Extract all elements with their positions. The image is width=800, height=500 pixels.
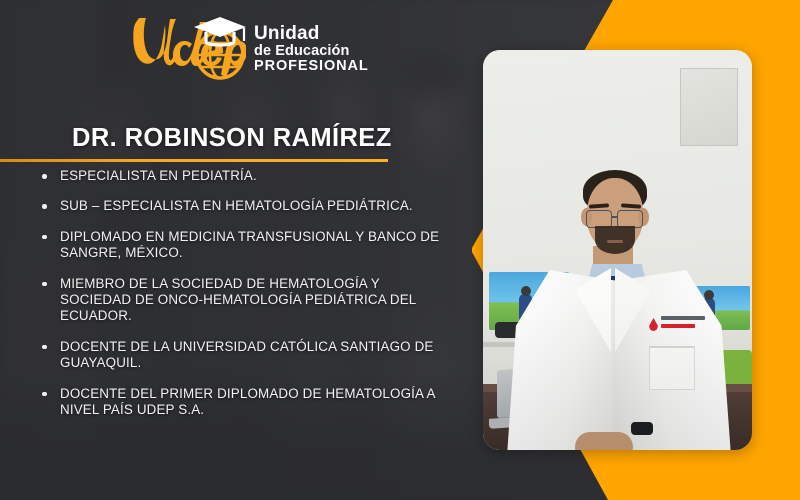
title-underline-rule xyxy=(0,159,388,162)
logo-line-2: de Educación xyxy=(254,44,369,59)
page-title: DR. ROBINSON RAMÍREZ xyxy=(72,124,392,153)
list-item: DOCENTE DEL PRIMER DIPLOMADO DE HEMATOLO… xyxy=(38,386,450,419)
doctor-portrait-photo:  xyxy=(483,50,752,450)
udep-logo: Unidad de Educación PROFESIONAL xyxy=(128,8,378,86)
udep-wordmark-icon xyxy=(128,11,246,83)
udep-logo-text: Unidad de Educación PROFESIONAL xyxy=(254,20,369,74)
list-item: DOCENTE DE LA UNIVERSIDAD CATÓLICA SANTI… xyxy=(38,339,450,372)
udep-logo-mark xyxy=(128,11,246,83)
credentials-list: ESPECIALISTA EN PEDIATRÍA. SUB – ESPECIA… xyxy=(38,168,450,432)
list-item: DIPLOMADO EN MEDICINA TRANSFUSIONAL Y BA… xyxy=(38,229,450,262)
promo-slide: Unidad de Educación PROFESIONAL DR. ROBI… xyxy=(0,0,800,500)
list-item: ESPECIALISTA EN PEDIATRÍA. xyxy=(38,168,450,184)
photo-shading xyxy=(483,50,752,450)
list-item: MIEMBRO DE LA SOCIEDAD DE HEMATOLOGÍA Y … xyxy=(38,276,450,325)
list-item: SUB – ESPECIALISTA EN HEMATOLOGÍA PEDIÁT… xyxy=(38,198,450,214)
logo-line-1: Unidad xyxy=(254,24,369,44)
globe-icon xyxy=(197,32,243,78)
logo-line-3: PROFESIONAL xyxy=(254,59,369,74)
